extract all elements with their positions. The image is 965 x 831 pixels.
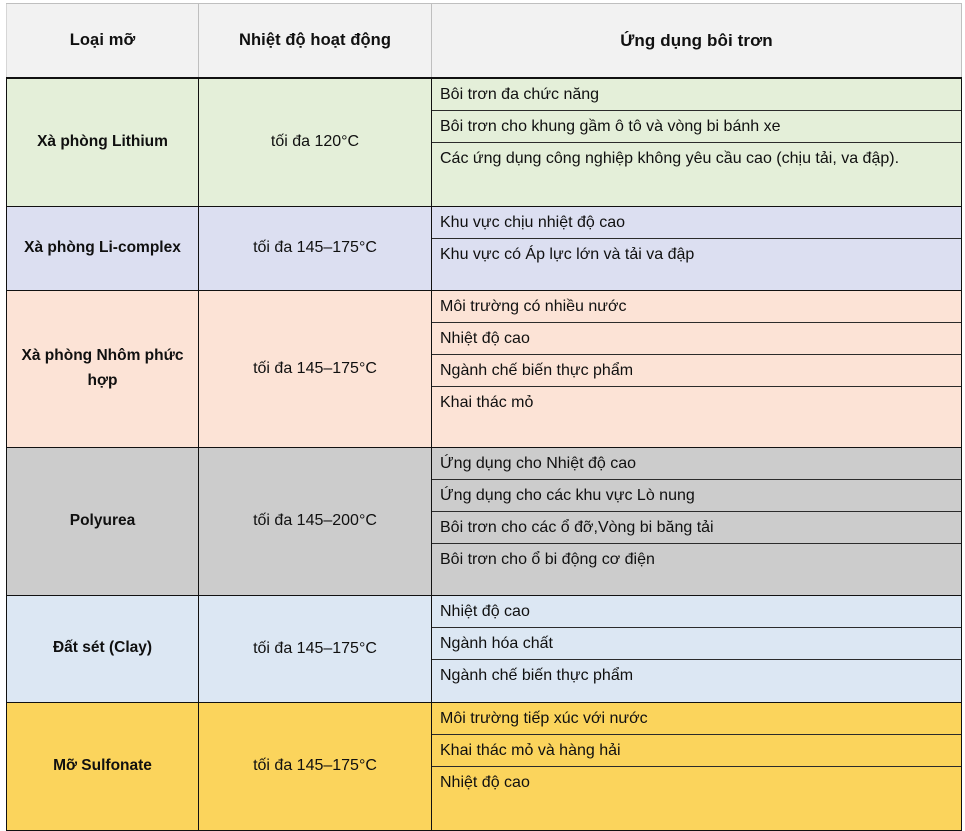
list-item: Khu vực chịu nhiệt độ cao — [432, 207, 961, 239]
grease-types-table: Loại mỡ Nhiệt độ hoạt động Ứng dụng bôi … — [6, 3, 962, 831]
cell-grease-type: Mỡ Sulfonate — [7, 702, 199, 830]
cell-applications: Khu vực chịu nhiệt độ cao Khu vực có Áp … — [432, 206, 962, 290]
cell-grease-type: Xà phòng Nhôm phức hợp — [7, 290, 199, 447]
application-list: Nhiệt độ cao Ngành hóa chất Ngành chế bi… — [432, 596, 961, 691]
list-item: Khai thác mỏ và hàng hải — [432, 735, 961, 767]
cell-applications: Ứng dụng cho Nhiệt độ cao Ứng dụng cho c… — [432, 447, 962, 595]
cell-grease-type: Đất sét (Clay) — [7, 595, 199, 702]
application-list: Môi trường tiếp xúc với nước Khai thác m… — [432, 703, 961, 798]
list-item: Bôi trơn cho khung gầm ô tô và vòng bi b… — [432, 111, 961, 143]
table-body: Xà phòng Lithium tối đa 120°C Bôi trơn đ… — [7, 78, 962, 830]
spreadsheet-canvas: Loại mỡ Nhiệt độ hoạt động Ứng dụng bôi … — [0, 0, 965, 819]
cell-grease-type: Xà phòng Lithium — [7, 78, 199, 206]
cell-grease-type: Polyurea — [7, 447, 199, 595]
list-item: Ngành chế biến thực phẩm — [432, 355, 961, 387]
cell-operating-temperature: tối đa 145–175°C — [199, 702, 432, 830]
table-row: Polyurea tối đa 145–200°C Ứng dụng cho N… — [7, 447, 962, 595]
list-item: Nhiệt độ cao — [432, 767, 961, 798]
table-header: Loại mỡ Nhiệt độ hoạt động Ứng dụng bôi … — [7, 4, 962, 79]
table-row: Xà phòng Lithium tối đa 120°C Bôi trơn đ… — [7, 78, 962, 206]
cell-applications: Bôi trơn đa chức năng Bôi trơn cho khung… — [432, 78, 962, 206]
application-list: Ứng dụng cho Nhiệt độ cao Ứng dụng cho c… — [432, 448, 961, 575]
application-list: Môi trường có nhiều nước Nhiệt độ cao Ng… — [432, 291, 961, 418]
cell-operating-temperature: tối đa 145–175°C — [199, 595, 432, 702]
cell-applications: Nhiệt độ cao Ngành hóa chất Ngành chế bi… — [432, 595, 962, 702]
cell-applications: Môi trường có nhiều nước Nhiệt độ cao Ng… — [432, 290, 962, 447]
application-list: Khu vực chịu nhiệt độ cao Khu vực có Áp … — [432, 207, 961, 270]
cell-operating-temperature: tối đa 145–175°C — [199, 290, 432, 447]
list-item: Môi trường tiếp xúc với nước — [432, 703, 961, 735]
list-item: Nhiệt độ cao — [432, 596, 961, 628]
cell-applications: Môi trường tiếp xúc với nước Khai thác m… — [432, 702, 962, 830]
list-item: Môi trường có nhiều nước — [432, 291, 961, 323]
list-item: Ngành chế biến thực phẩm — [432, 660, 961, 691]
list-item: Ứng dụng cho các khu vực Lò nung — [432, 480, 961, 512]
column-header-lubrication-application: Ứng dụng bôi trơn — [432, 4, 962, 79]
header-row: Loại mỡ Nhiệt độ hoạt động Ứng dụng bôi … — [7, 4, 962, 79]
cell-grease-type: Xà phòng Li-complex — [7, 206, 199, 290]
list-item: Bôi trơn cho ổ bi động cơ điện — [432, 544, 961, 575]
cell-operating-temperature: tối đa 145–175°C — [199, 206, 432, 290]
table-row: Xà phòng Li-complex tối đa 145–175°C Khu… — [7, 206, 962, 290]
cell-operating-temperature: tối đa 120°C — [199, 78, 432, 206]
table-row: Mỡ Sulfonate tối đa 145–175°C Môi trường… — [7, 702, 962, 830]
table-row: Xà phòng Nhôm phức hợp tối đa 145–175°C … — [7, 290, 962, 447]
list-item: Khai thác mỏ — [432, 387, 961, 418]
table-row: Đất sét (Clay) tối đa 145–175°C Nhiệt độ… — [7, 595, 962, 702]
cell-operating-temperature: tối đa 145–200°C — [199, 447, 432, 595]
list-item: Ngành hóa chất — [432, 628, 961, 660]
column-header-grease-type: Loại mỡ — [7, 4, 199, 79]
list-item: Các ứng dụng công nghiệp không yêu cầu c… — [432, 143, 961, 174]
list-item: Nhiệt độ cao — [432, 323, 961, 355]
list-item: Khu vực có Áp lực lớn và tải va đập — [432, 239, 961, 270]
list-item: Bôi trơn đa chức năng — [432, 79, 961, 111]
list-item: Bôi trơn cho các ổ đỡ,Vòng bi băng tải — [432, 512, 961, 544]
application-list: Bôi trơn đa chức năng Bôi trơn cho khung… — [432, 79, 961, 174]
list-item: Ứng dụng cho Nhiệt độ cao — [432, 448, 961, 480]
column-header-operating-temperature: Nhiệt độ hoạt động — [199, 4, 432, 79]
